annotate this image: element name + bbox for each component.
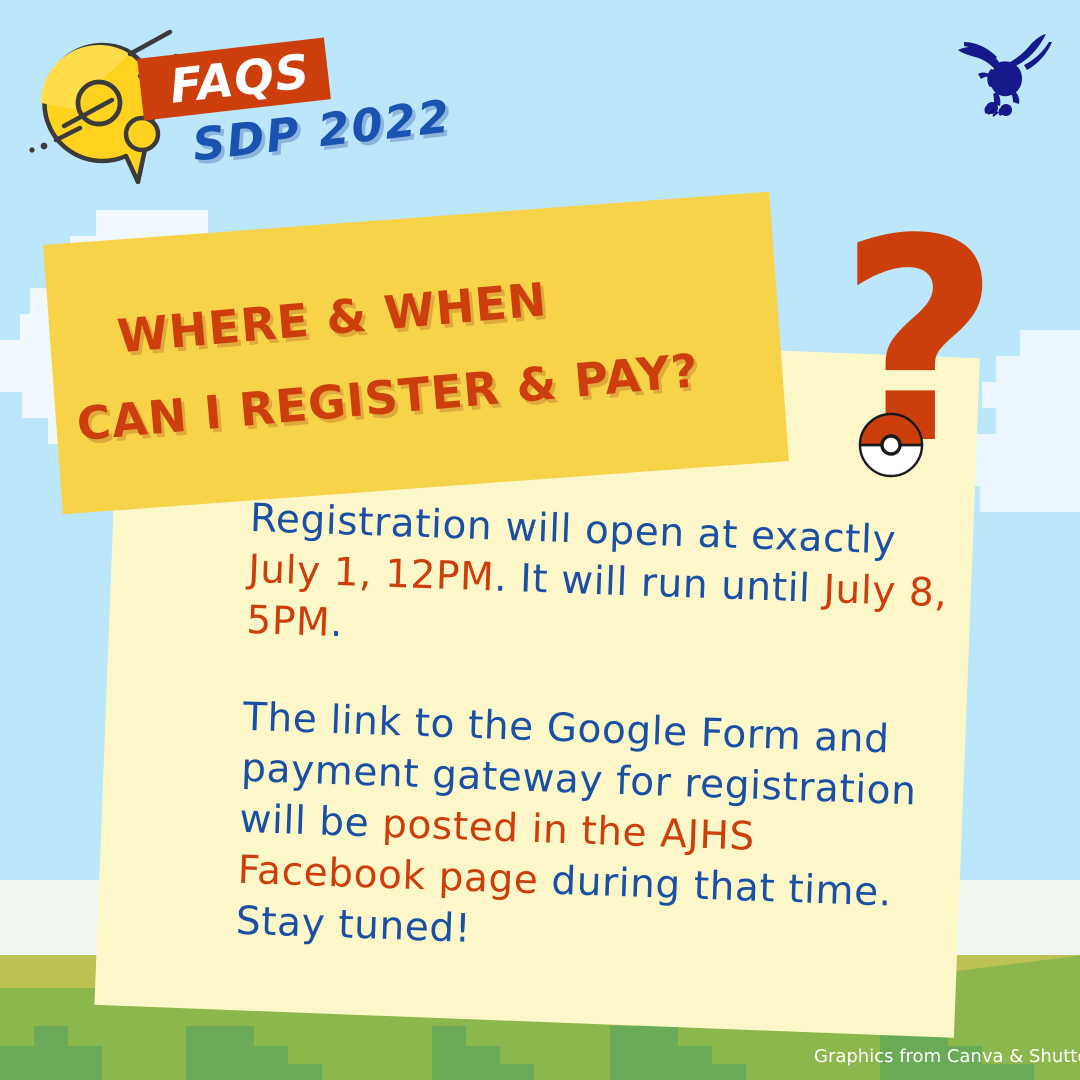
paragraph-1: Registration will open at exactly July 1… — [246, 493, 951, 670]
p1-highlight-a: July 1, 12PM — [247, 547, 495, 601]
p1-text-c: . — [329, 601, 344, 646]
paragraph-2: The link to the Google Form and payment … — [235, 692, 943, 971]
pokeball-icon — [858, 412, 924, 478]
eagle-icon — [948, 28, 1056, 120]
faq-poster: ? WHERE & WHEN CAN I REGISTER & PAY? FAQ… — [0, 0, 1080, 1080]
body-copy: Registration will open at exactly July 1… — [233, 493, 950, 1017]
p1-text-b: . It will run until — [493, 555, 824, 611]
graphics-credit: Graphics from Canva & Shutterstock — [814, 1046, 1080, 1067]
